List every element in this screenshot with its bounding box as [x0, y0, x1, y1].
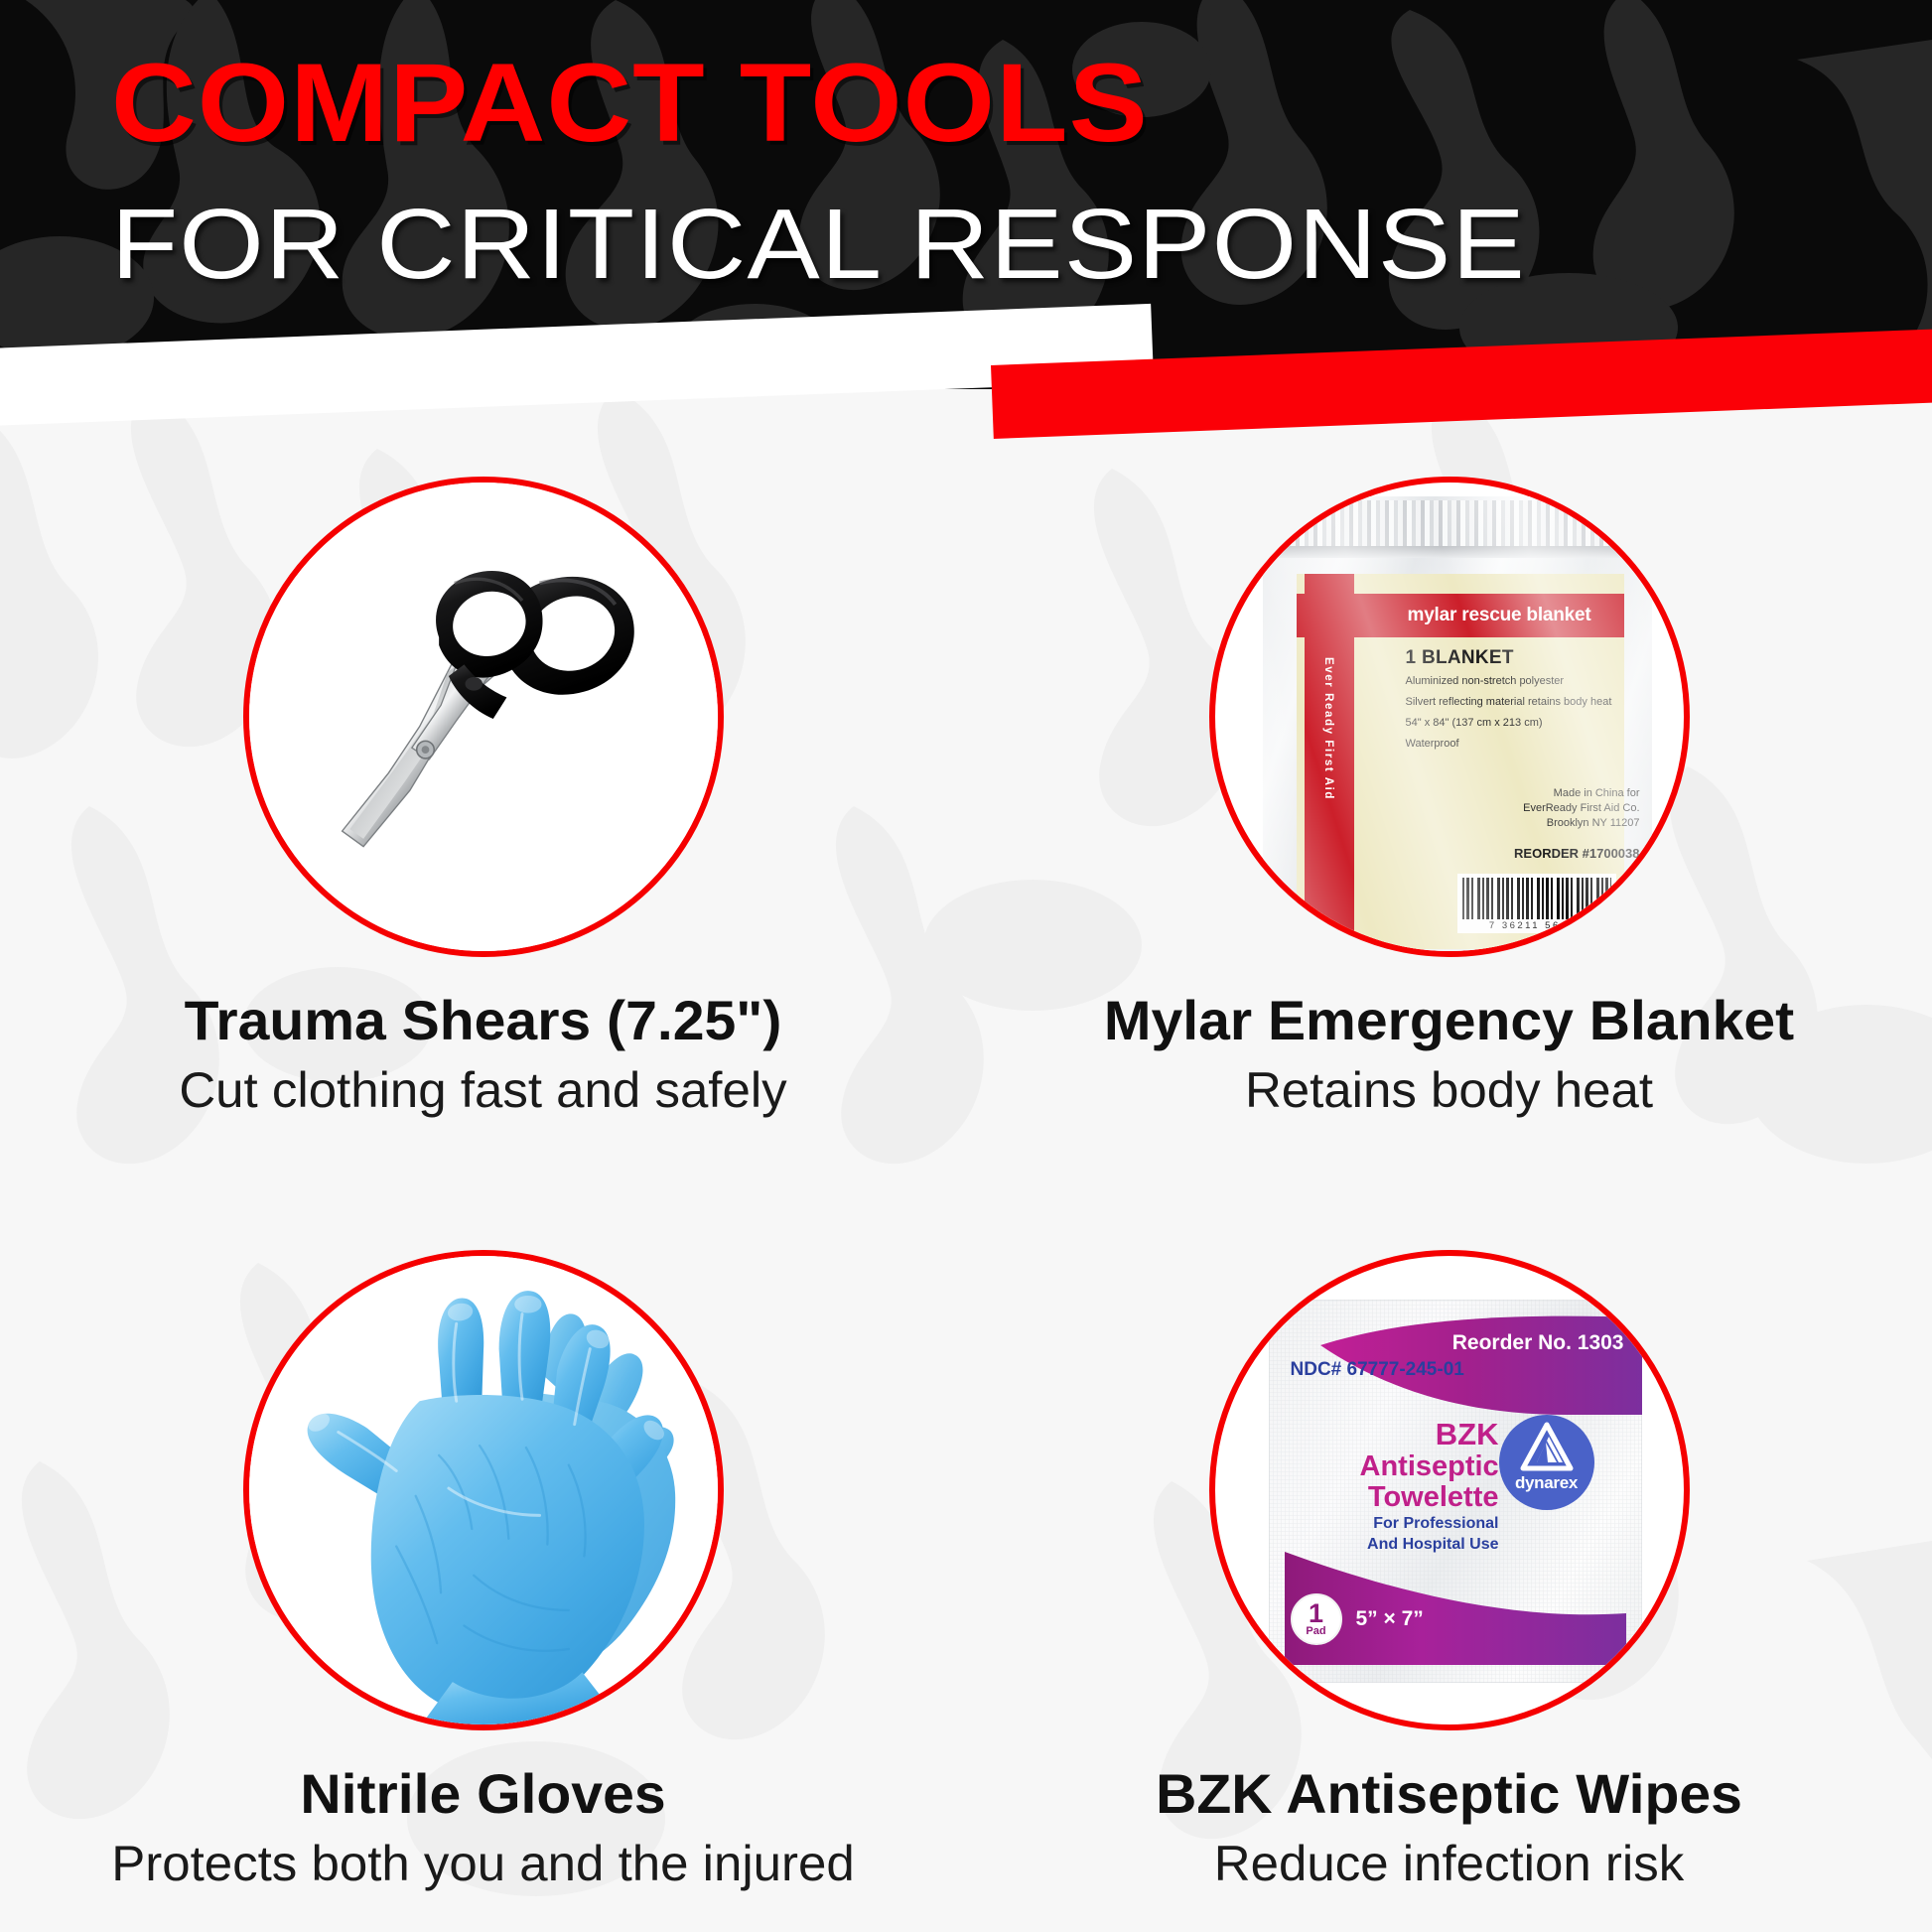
bzk-pad-label: Pad	[1306, 1625, 1325, 1637]
mylar-made-line-2: EverReady First Aid Co.	[1428, 801, 1640, 816]
mylar-reorder: REORDER #1700038	[1514, 846, 1639, 861]
mylar-made-line-1: Made in China for	[1428, 786, 1640, 801]
poster-title-main: COMPACT TOOLS	[111, 48, 1474, 159]
mylar-brand-vertical: Ever Ready First Aid	[1307, 592, 1352, 866]
mylar-label-body: 1 BLANKET Aluminized non-stretch polyest…	[1406, 647, 1622, 753]
mylar-blanket-caption: Mylar Emergency Blanket Retains body hea…	[966, 991, 1932, 1118]
dynarex-wordmark: dynarex	[1515, 1473, 1578, 1493]
product-card-mylar-blanket[interactable]: Ever Ready First Aid mylar rescue blanke…	[966, 389, 1932, 1161]
mylar-zip-lip	[1273, 546, 1642, 558]
bzk-wipes-caption: BZK Antiseptic Wipes Reduce infection ri…	[966, 1764, 1932, 1891]
dynarex-triangle-icon	[1519, 1421, 1575, 1472]
bzk-name-line-2: Antiseptic	[1360, 1451, 1499, 1482]
bzk-ndc: NDC# 67777-245-01	[1291, 1359, 1464, 1381]
mylar-barcode-number: 7 36211 56484	[1462, 920, 1611, 931]
nitrile-gloves-subtitle: Protects both you and the injured	[0, 1837, 976, 1891]
nitrile-gloves-caption: Nitrile Gloves Protects both you and the…	[0, 1764, 966, 1891]
bzk-product-name: BZK Antiseptic Towelette For Professiona…	[1360, 1419, 1499, 1554]
nitrile-gloves-photo-circle	[243, 1250, 724, 1730]
mylar-title-bar: mylar rescue blanket	[1396, 594, 1624, 637]
bzk-name-line-3: Towelette	[1360, 1482, 1499, 1513]
bzk-wipes-subtitle: Reduce infection risk	[956, 1837, 1932, 1891]
mylar-spec-2: Silvert reflecting material retains body…	[1406, 695, 1622, 711]
product-card-trauma-shears[interactable]: Trauma Shears (7.25") Cut clothing fast …	[0, 389, 966, 1161]
mylar-spec-3: 54" x 84" (137 cm x 213 cm)	[1406, 716, 1622, 732]
mylar-qty: 1 BLANKET	[1406, 647, 1622, 669]
trauma-shears-subtitle: Cut clothing fast and safely	[0, 1063, 976, 1118]
product-infographic-poster: COMPACT TOOLS FOR CRITICAL RESPONSE	[0, 0, 1932, 1932]
mylar-spec-1: Aluminized non-stretch polyester	[1406, 674, 1622, 690]
mylar-title-text: mylar rescue blanket	[1408, 605, 1591, 626]
bzk-wipes-title: BZK Antiseptic Wipes	[956, 1764, 1932, 1823]
trauma-shears-photo	[249, 483, 718, 951]
poster-title-sub: FOR CRITICAL RESPONSE	[111, 195, 1526, 294]
dynarex-logo: dynarex	[1499, 1415, 1594, 1510]
mylar-barcode: 7 36211 56484	[1457, 874, 1616, 933]
mylar-spec-4: Waterproof	[1406, 737, 1622, 753]
mylar-barcode-bars	[1462, 878, 1611, 919]
mylar-zip-top	[1269, 500, 1646, 546]
mylar-made-in: Made in China for EverReady First Aid Co…	[1428, 786, 1640, 831]
mylar-blanket-subtitle: Retains body heat	[956, 1063, 1932, 1118]
bzk-use-line-2: And Hospital Use	[1360, 1536, 1499, 1554]
header-title-group: COMPACT TOOLS FOR CRITICAL RESPONSE	[111, 48, 1397, 294]
bzk-pad-number: 1	[1309, 1601, 1323, 1625]
bzk-wipe-photo-circle: Reorder No. 1303 NDC# 67777-245-01 BZK A…	[1209, 1250, 1690, 1730]
trauma-shears-caption: Trauma Shears (7.25") Cut clothing fast …	[0, 991, 966, 1118]
product-grid: Trauma Shears (7.25") Cut clothing fast …	[0, 389, 1932, 1932]
trauma-shears-photo-circle	[243, 477, 724, 957]
bzk-pad-count: 1 Pad	[1291, 1593, 1342, 1645]
mylar-brand-text: Ever Ready First Aid	[1323, 657, 1335, 800]
mylar-blanket-title: Mylar Emergency Blanket	[956, 991, 1932, 1049]
bzk-size: 5” × 7”	[1356, 1607, 1424, 1631]
nitrile-gloves-photo	[249, 1256, 718, 1725]
product-card-bzk-wipes[interactable]: Reorder No. 1303 NDC# 67777-245-01 BZK A…	[966, 1161, 1932, 1932]
bzk-name-line-1: BZK	[1360, 1419, 1499, 1451]
mylar-made-line-3: Brooklyn NY 11207	[1428, 816, 1640, 831]
mylar-blanket-photo: Ever Ready First Aid mylar rescue blanke…	[1263, 496, 1652, 957]
trauma-shears-title: Trauma Shears (7.25")	[0, 991, 976, 1049]
bzk-wipe-photo: Reorder No. 1303 NDC# 67777-245-01 BZK A…	[1269, 1300, 1642, 1683]
nitrile-gloves-title: Nitrile Gloves	[0, 1764, 976, 1823]
bzk-reorder: Reorder No. 1303	[1452, 1331, 1624, 1355]
mylar-blanket-photo-circle: Ever Ready First Aid mylar rescue blanke…	[1209, 477, 1690, 957]
product-card-nitrile-gloves[interactable]: Nitrile Gloves Protects both you and the…	[0, 1161, 966, 1932]
bzk-use-line-1: For Professional	[1360, 1515, 1499, 1533]
